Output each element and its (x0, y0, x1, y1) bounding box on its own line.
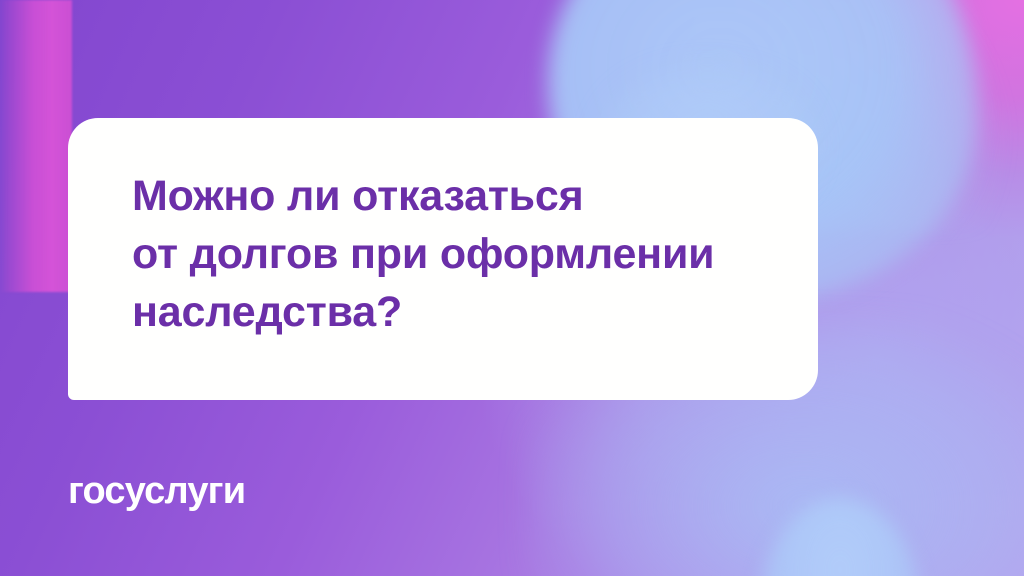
promo-banner: Можно ли отказаться от долгов при оформл… (0, 0, 1024, 576)
page-title: Можно ли отказаться от долгов при оформл… (132, 167, 714, 341)
background-magenta-band (0, 0, 72, 292)
gosuslugi-logo: госуслуги (68, 472, 245, 510)
content-card: Можно ли отказаться от долгов при оформл… (68, 118, 818, 400)
